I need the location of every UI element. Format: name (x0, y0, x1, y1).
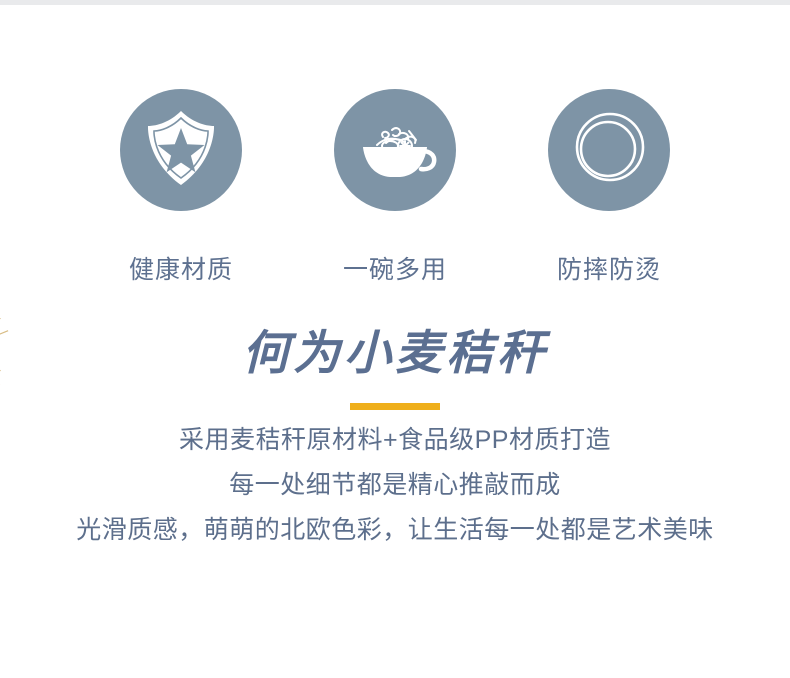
heading-underline-rule (350, 403, 440, 410)
page-title: 何为小麦秸秆 (0, 327, 790, 382)
feature-highlights-row: 健康材质 (0, 89, 790, 286)
noodle-bowl-icon (353, 113, 437, 188)
feature-label: 一碗多用 (343, 250, 447, 286)
plate-rings-icon (568, 107, 650, 194)
product-detail-page: 健康材质 (0, 0, 790, 678)
feature-label: 防摔防烫 (557, 250, 661, 286)
feature-icon-circle (334, 89, 456, 211)
feature-icon-circle (548, 89, 670, 211)
description-line: 采用麦秸秆原材料+食品级PP材质打造 (0, 428, 790, 453)
top-edge-strip (0, 0, 790, 5)
feature-item-multi-use-bowl: 一碗多用 (334, 89, 456, 286)
feature-item-healthy-material: 健康材质 (120, 89, 242, 286)
feature-label: 健康材质 (129, 250, 233, 286)
description-block: 采用麦秸秆原材料+食品级PP材质打造 每一处细节都是精心推敲而成 光滑质感，萌萌… (0, 428, 790, 543)
description-line: 光滑质感，萌萌的北欧色彩，让生活每一处都是艺术美味 (0, 518, 790, 543)
description-line: 每一处细节都是精心推敲而成 (0, 473, 790, 498)
feature-item-drop-heat-proof: 防摔防烫 (548, 89, 670, 286)
section-heading-block: 何为小麦秸秆 (0, 327, 790, 410)
shield-star-icon (144, 108, 218, 193)
feature-icon-circle (120, 89, 242, 211)
